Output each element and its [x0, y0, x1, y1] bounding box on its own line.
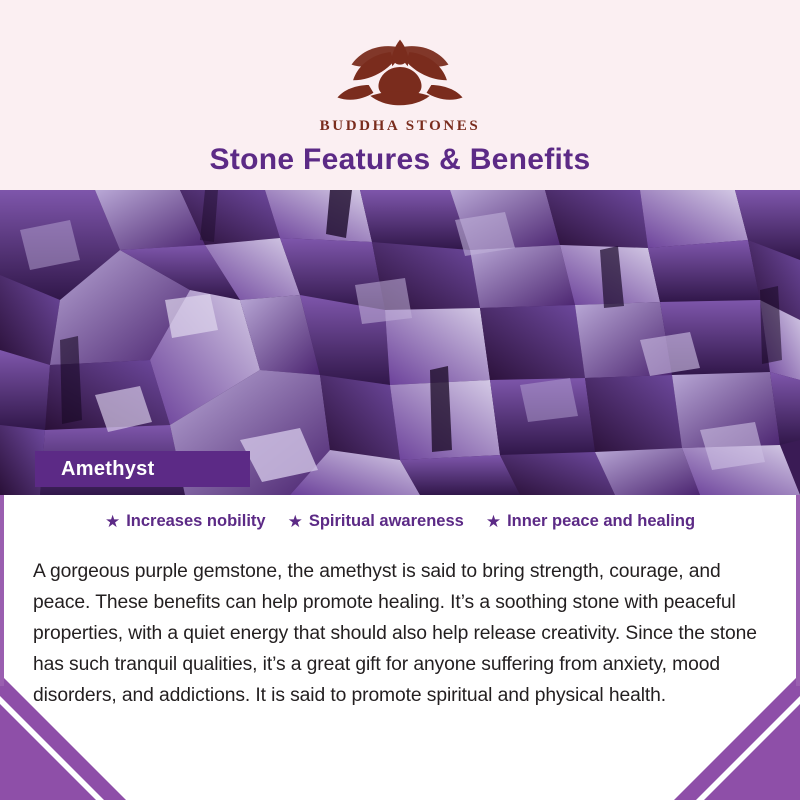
benefit-label: Spiritual awareness: [309, 512, 464, 531]
brand-name: BUDDHA STONES: [0, 118, 800, 135]
benefit-item-3: ★ Inner peace and healing: [486, 512, 695, 531]
benefit-label: Increases nobility: [126, 512, 265, 531]
benefit-label: Inner peace and healing: [507, 512, 695, 531]
star-icon: ★: [486, 513, 501, 530]
page-title: Stone Features & Benefits: [0, 143, 800, 177]
card-header: BUDDHA STONES Stone Features & Benefits: [0, 0, 800, 190]
benefit-item-1: ★ Increases nobility: [105, 512, 266, 531]
amethyst-crystal-cluster-photo: Amethyst: [0, 190, 800, 495]
benefit-item-2: ★ Spiritual awareness: [288, 512, 464, 531]
stone-description: A gorgeous purple gemstone, the amethyst…: [33, 556, 773, 711]
star-icon: ★: [105, 513, 120, 530]
benefits-row: ★ Increases nobility ★ Spiritual awarene…: [0, 512, 800, 531]
star-icon: ★: [288, 513, 303, 530]
lotus-meditation-figure-icon: [320, 24, 480, 110]
stone-name-badge: Amethyst: [35, 451, 250, 487]
brand-logo: [0, 24, 800, 115]
stone-info-card: BUDDHA STONES Stone Features & Benefits: [0, 0, 800, 800]
